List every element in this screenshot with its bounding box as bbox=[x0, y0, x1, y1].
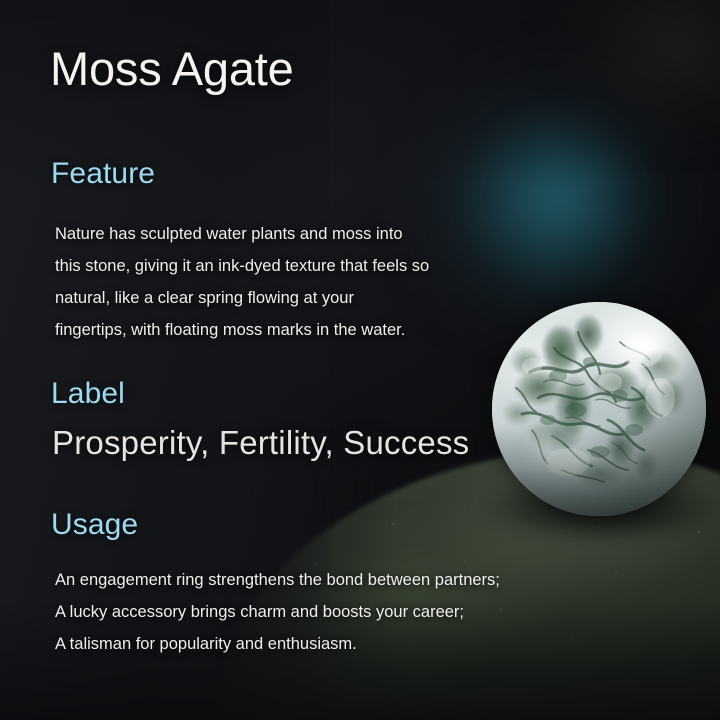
feature-line: natural, like a clear spring flowing at … bbox=[55, 282, 429, 314]
section-body-usage: An engagement ring strengthens the bond … bbox=[55, 564, 500, 660]
feature-line: this stone, giving it an ink-dyed textur… bbox=[55, 250, 429, 282]
feature-line: fingertips, with floating moss marks in … bbox=[55, 314, 429, 346]
product-info-card: Moss Agate Feature Nature has sculpted w… bbox=[0, 0, 720, 720]
section-heading-label: Label bbox=[51, 377, 125, 411]
text-content: Moss Agate Feature Nature has sculpted w… bbox=[0, 0, 720, 720]
label-value: Prosperity, Fertility, Success bbox=[52, 424, 469, 462]
page-title: Moss Agate bbox=[50, 41, 294, 96]
usage-line: A lucky accessory brings charm and boost… bbox=[55, 596, 500, 628]
section-heading-feature: Feature bbox=[51, 157, 155, 191]
feature-line: Nature has sculpted water plants and mos… bbox=[55, 218, 429, 250]
usage-line: A talisman for popularity and enthusiasm… bbox=[55, 628, 500, 660]
usage-line: An engagement ring strengthens the bond … bbox=[55, 564, 500, 596]
section-heading-usage: Usage bbox=[51, 508, 138, 542]
section-body-feature: Nature has sculpted water plants and mos… bbox=[55, 218, 429, 346]
